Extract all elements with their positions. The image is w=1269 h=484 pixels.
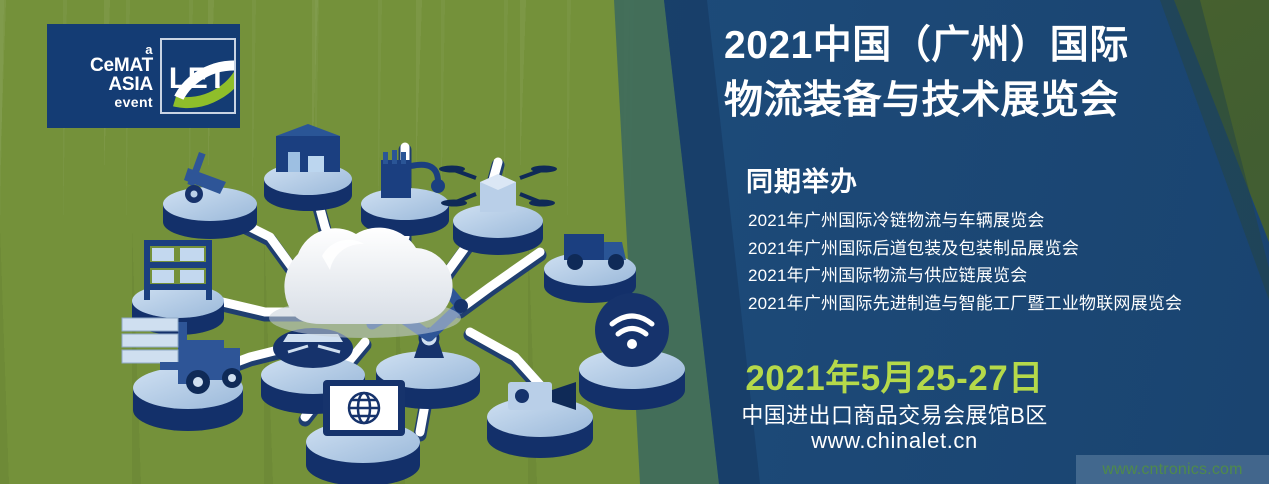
watermark-bar: www.cntronics.com (1076, 455, 1269, 484)
event-date: 2021年5月25-27日 (0, 350, 1269, 401)
title-line-1: 2021中国（广州）国际 (724, 18, 1264, 73)
node-warehouse (264, 124, 352, 211)
event-venue: 中国进出口商品交易会展馆B区 (0, 398, 1269, 430)
logo-a-text: a (47, 43, 153, 56)
node-delivery-truck (544, 234, 636, 303)
event-website: www.chinalet.cn (0, 428, 1269, 454)
list-item: 2021年广州国际后道包装及包装制品展览会 (748, 235, 1268, 263)
watermark-text: www.cntronics.com (1102, 461, 1242, 479)
page-title: 2021中国（广州）国际 物流装备与技术展览会 (724, 18, 1264, 129)
title-line-2: 物流装备与技术展览会 (724, 73, 1264, 128)
node-hand-truck (163, 152, 257, 239)
list-item: 2021年广州国际冷链物流与车辆展览会 (748, 207, 1268, 235)
concurrent-events-heading: 同期举办 (746, 160, 858, 199)
node-drone (439, 166, 557, 256)
list-item: 2021年广州国际先进制造与智能工厂暨工业物联网展览会 (748, 290, 1268, 318)
node-crane (361, 150, 449, 236)
concurrent-events-list: 2021年广州国际冷链物流与车辆展览会 2021年广州国际后道包装及包装制品展览… (748, 207, 1268, 317)
event-banner: a CeMAT ASIA event LET (0, 0, 1269, 484)
list-item: 2021年广州国际物流与供应链展览会 (748, 262, 1268, 290)
cloud-icon (269, 228, 461, 338)
